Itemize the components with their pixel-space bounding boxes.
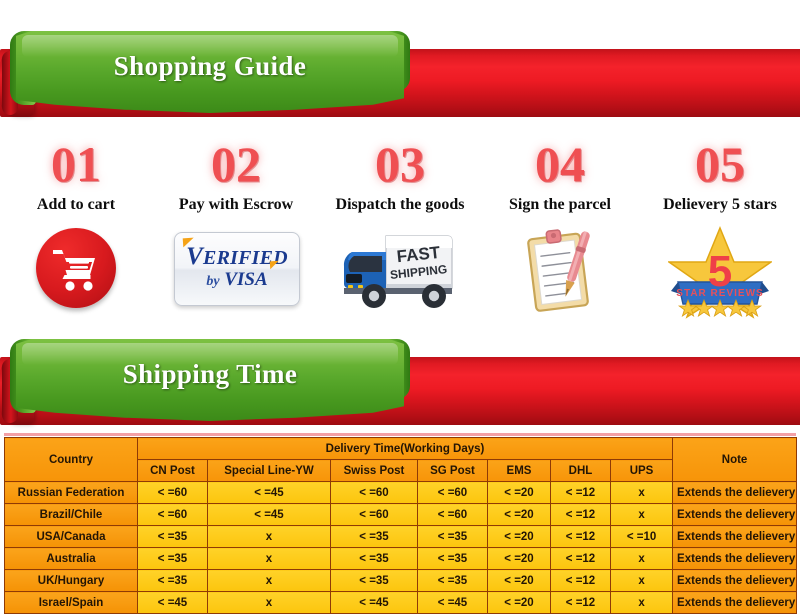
step-01-number: 01 — [0, 138, 156, 190]
step-04-artwork — [480, 224, 640, 320]
shopping-guide-infographic: Shopping Guide 01 Add to cart — [0, 0, 800, 589]
cell-sg-post: < =35 — [418, 548, 488, 570]
cell-ems: < =20 — [488, 570, 551, 592]
cell-swiss-post: < =60 — [331, 504, 418, 526]
visa-checkmark-small-icon — [270, 260, 280, 269]
cell-special-line-yw: x — [208, 570, 331, 592]
table-row: Russian Federation < =60 < =45 < =60 < =… — [5, 482, 797, 504]
cell-ups: < =10 — [611, 526, 673, 548]
step-01: 01 Add to cart — [0, 138, 156, 320]
table-row: Australia < =35 x < =35 < =35 < =20 < =1… — [5, 548, 797, 570]
cell-cn-post: < =35 — [138, 548, 208, 570]
cell-dhl: < =12 — [551, 570, 611, 592]
cell-cn-post: < =35 — [138, 526, 208, 548]
banner-shopping-guide: Shopping Guide — [0, 25, 800, 129]
step-02-artwork: VERIFIED by VISA — [156, 224, 316, 320]
cell-country: Brazil/Chile — [5, 504, 138, 526]
cell-dhl: < =12 — [551, 504, 611, 526]
cell-dhl: < =12 — [551, 592, 611, 614]
table-row: USA/Canada < =35 x < =35 < =35 < =20 < =… — [5, 526, 797, 548]
cell-note: Extends the delievery time — [673, 592, 797, 614]
cell-special-line-yw: < =45 — [208, 504, 331, 526]
verified-by-visa-badge-icon: VERIFIED by VISA — [174, 232, 300, 306]
cell-sg-post: < =60 — [418, 482, 488, 504]
step-01-artwork — [0, 224, 156, 320]
cell-sg-post: < =35 — [418, 526, 488, 548]
step-03: 03 Dispatch the goods — [320, 138, 480, 320]
cell-ups: x — [611, 482, 673, 504]
header-swiss-post: Swiss Post — [331, 460, 418, 482]
cell-ups: x — [611, 504, 673, 526]
cell-sg-post: < =45 — [418, 592, 488, 614]
header-note: Note — [673, 438, 797, 482]
table-row: Brazil/Chile < =60 < =45 < =60 < =60 < =… — [5, 504, 797, 526]
cell-note: Extends the delievery time — [673, 548, 797, 570]
cell-swiss-post: < =45 — [331, 592, 418, 614]
cell-special-line-yw: x — [208, 526, 331, 548]
step-03-number: 03 — [320, 138, 480, 190]
cell-dhl: < =12 — [551, 526, 611, 548]
visa-badge-line-2: by VISA — [206, 269, 267, 292]
step-03-artwork: FAST SHIPPING — [320, 224, 480, 320]
cell-ems: < =20 — [488, 504, 551, 526]
table-top-divider — [4, 433, 796, 436]
cell-sg-post: < =60 — [418, 504, 488, 526]
cell-sg-post: < =35 — [418, 570, 488, 592]
header-ems: EMS — [488, 460, 551, 482]
cell-ups: x — [611, 592, 673, 614]
step-02-label: Pay with Escrow — [156, 196, 316, 214]
clipboard-pen-icon — [514, 224, 606, 320]
header-special-line-yw: Special Line-YW — [208, 460, 331, 482]
step-04-label: Sign the parcel — [480, 196, 640, 214]
cell-note: Extends the delievery time — [673, 504, 797, 526]
cell-note: Extends the delievery time — [673, 526, 797, 548]
delivery-truck-icon: FAST SHIPPING — [338, 226, 462, 318]
cell-cn-post: < =45 — [138, 592, 208, 614]
cell-ems: < =20 — [488, 592, 551, 614]
cell-note: Extends the delievery time — [673, 570, 797, 592]
cell-ems: < =20 — [488, 526, 551, 548]
cell-country: Australia — [5, 548, 138, 570]
header-delivery-time-group: Delivery Time(Working Days) — [138, 438, 673, 460]
cell-country: UK/Hungary — [5, 570, 138, 592]
table-row: Israel/Spain < =45 x < =45 < =45 < =20 <… — [5, 592, 797, 614]
cell-cn-post: < =60 — [138, 504, 208, 526]
cell-country: Russian Federation — [5, 482, 138, 504]
step-04: 04 Sign the parcel — [480, 138, 640, 320]
cell-country: Israel/Spain — [5, 592, 138, 614]
step-02: 02 Pay with Escrow VERIFIED by VISA — [156, 138, 316, 320]
visa-checkmark-icon — [183, 237, 195, 247]
cell-swiss-post: < =35 — [331, 548, 418, 570]
shopping-cart-icon — [36, 228, 116, 308]
cell-special-line-yw: x — [208, 592, 331, 614]
banner-shipping-time: Shipping Time — [0, 333, 800, 437]
step-02-number: 02 — [156, 138, 316, 190]
shipping-time-table: Country Delivery Time(Working Days) Note… — [4, 437, 797, 614]
step-05: 05 Delievery 5 stars 5 STAR REVIEWS — [640, 138, 800, 320]
cell-cn-post: < =35 — [138, 570, 208, 592]
table-row: UK/Hungary < =35 x < =35 < =35 < =20 < =… — [5, 570, 797, 592]
step-05-artwork: 5 STAR REVIEWS — [640, 224, 800, 320]
cell-dhl: < =12 — [551, 482, 611, 504]
header-country: Country — [5, 438, 138, 482]
cell-swiss-post: < =35 — [331, 526, 418, 548]
header-ups: UPS — [611, 460, 673, 482]
banner-title-shopping-guide: Shopping Guide — [16, 31, 404, 101]
cell-ems: < =20 — [488, 548, 551, 570]
cell-country: USA/Canada — [5, 526, 138, 548]
header-sg-post: SG Post — [418, 460, 488, 482]
shipping-time-table-wrapper: Country Delivery Time(Working Days) Note… — [4, 437, 796, 614]
cell-ems: < =20 — [488, 482, 551, 504]
step-03-label: Dispatch the goods — [320, 196, 480, 214]
cell-swiss-post: < =60 — [331, 482, 418, 504]
steps-row: 01 Add to cart 02 Pay wit — [0, 138, 800, 328]
star-badge-ribbon-text: STAR REVIEWS — [676, 288, 763, 299]
table-header-row-1: Country Delivery Time(Working Days) Note — [5, 438, 797, 460]
step-04-number: 04 — [480, 138, 640, 190]
cell-ups: x — [611, 570, 673, 592]
cell-note: Extends the delievery time — [673, 482, 797, 504]
banner-title-shipping-time: Shipping Time — [16, 339, 404, 409]
step-01-label: Add to cart — [0, 196, 156, 214]
cell-special-line-yw: < =45 — [208, 482, 331, 504]
header-cn-post: CN Post — [138, 460, 208, 482]
five-star-badge-icon: 5 STAR REVIEWS — [668, 224, 772, 320]
cell-cn-post: < =60 — [138, 482, 208, 504]
cell-special-line-yw: x — [208, 548, 331, 570]
cell-dhl: < =12 — [551, 548, 611, 570]
step-05-number: 05 — [640, 138, 800, 190]
cell-ups: x — [611, 548, 673, 570]
header-dhl: DHL — [551, 460, 611, 482]
step-05-label: Delievery 5 stars — [640, 196, 800, 214]
cell-swiss-post: < =35 — [331, 570, 418, 592]
